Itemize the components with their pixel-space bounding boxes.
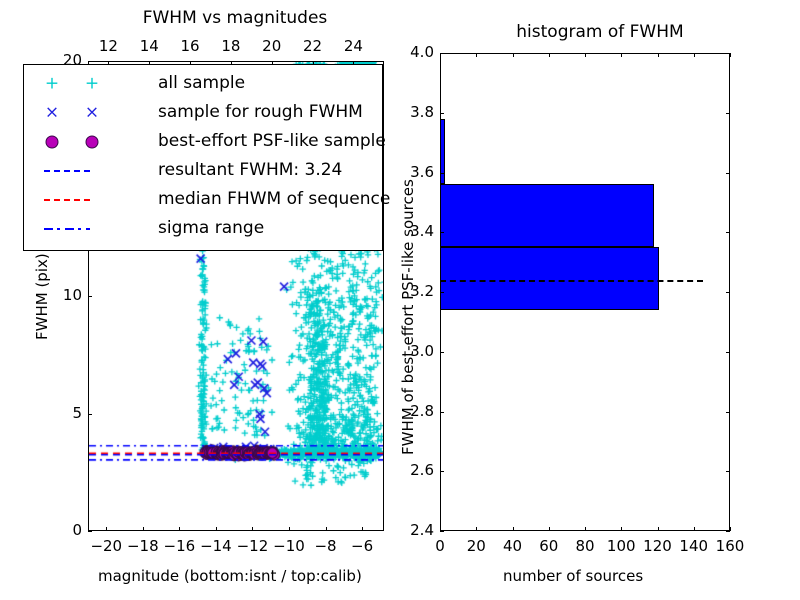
legend-label: resultant FWHM: 3.24	[158, 156, 342, 185]
tick-mark	[694, 527, 695, 531]
tick-mark	[440, 531, 444, 532]
histogram-plot-axes	[440, 53, 730, 531]
tick-label: 80	[565, 537, 605, 555]
legend-label: best-effort PSF-like sample	[158, 127, 386, 156]
tick-label: −12	[233, 537, 271, 555]
cross-icon: ×	[85, 104, 99, 121]
legend[interactable]: ++all sample××sample for rough FWHMbest-…	[23, 64, 383, 251]
tick-label: 14	[130, 37, 168, 55]
tick-mark	[549, 53, 550, 57]
tick-mark	[726, 113, 730, 114]
tick-mark	[440, 113, 444, 114]
legend-marker	[30, 156, 158, 185]
dashdot-line-icon	[44, 228, 90, 230]
tick-mark	[88, 296, 92, 297]
tick-mark	[730, 527, 731, 531]
tick-mark	[726, 471, 730, 472]
legend-label: sample for rough FWHM	[158, 98, 363, 127]
tick-mark	[726, 232, 730, 233]
legend-item[interactable]: ××sample for rough FWHM	[30, 98, 382, 127]
tick-mark	[513, 527, 514, 531]
tick-mark	[106, 527, 107, 531]
tick-label: 16	[171, 37, 209, 55]
tick-mark	[476, 527, 477, 531]
tick-mark	[440, 53, 441, 57]
tick-label: 5	[40, 404, 82, 422]
tick-label: 0	[40, 521, 82, 539]
tick-mark	[440, 471, 444, 472]
tick-mark	[730, 53, 731, 57]
tick-label: 160	[710, 537, 750, 555]
tick-label: 18	[212, 37, 250, 55]
legend-marker	[30, 185, 158, 214]
tick-label: 3.8	[394, 103, 434, 121]
tick-mark	[726, 352, 730, 353]
tick-label: −14	[197, 537, 235, 555]
legend-label: sigma range	[158, 214, 264, 243]
legend-marker: ++	[30, 69, 158, 98]
tick-mark	[476, 53, 477, 57]
tick-mark	[440, 232, 444, 233]
tick-mark	[362, 527, 363, 531]
tick-mark	[621, 53, 622, 57]
dashed-line-icon	[44, 170, 90, 172]
filled-circle-icon	[86, 135, 99, 148]
tick-label: 2.8	[394, 402, 434, 420]
tick-mark	[585, 53, 586, 57]
tick-mark	[726, 412, 730, 413]
legend-item[interactable]: ++all sample	[30, 69, 382, 98]
tick-label: 10	[40, 286, 82, 304]
tick-mark	[440, 412, 444, 413]
legend-item[interactable]: median FHWM of sequence	[30, 185, 382, 214]
legend-label: median FHWM of sequence	[158, 185, 390, 214]
tick-label: −10	[270, 537, 308, 555]
tick-label: 100	[601, 537, 641, 555]
plus-icon: +	[85, 75, 99, 92]
tick-mark	[88, 61, 92, 62]
legend-item[interactable]: best-effort PSF-like sample	[30, 127, 382, 156]
plus-icon: +	[45, 75, 59, 92]
tick-label: 3.0	[394, 342, 434, 360]
dashed-line-icon	[44, 199, 90, 201]
left-panel-title: FWHM vs magnitudes	[80, 8, 390, 28]
tick-mark	[440, 292, 444, 293]
tick-label: 3.6	[394, 163, 434, 181]
tick-mark	[289, 527, 290, 531]
cross-icon: ×	[45, 104, 59, 121]
tick-label: 4.0	[394, 43, 434, 61]
tick-mark	[143, 527, 144, 531]
right-panel-title: histogram of FWHM	[450, 22, 750, 42]
tick-label: 40	[493, 537, 533, 555]
legend-item[interactable]: resultant FWHM: 3.24	[30, 156, 382, 185]
tick-mark	[658, 527, 659, 531]
tick-label: 2.4	[394, 521, 434, 539]
tick-mark	[440, 173, 444, 174]
tick-label: −18	[124, 537, 162, 555]
tick-label: 3.4	[394, 222, 434, 240]
tick-mark	[726, 531, 730, 532]
tick-mark	[726, 173, 730, 174]
tick-mark	[621, 527, 622, 531]
tick-mark	[88, 531, 92, 532]
tick-mark	[252, 527, 253, 531]
tick-mark	[694, 53, 695, 57]
tick-label: −20	[87, 537, 125, 555]
tick-label: 120	[638, 537, 678, 555]
histogram-xlabel: number of sources	[503, 567, 643, 585]
tick-mark	[726, 292, 730, 293]
tick-label: −16	[160, 537, 198, 555]
tick-mark	[585, 527, 586, 531]
tick-mark	[658, 53, 659, 57]
tick-label: 22	[294, 37, 332, 55]
legend-label: all sample	[158, 69, 245, 98]
tick-label: 2.6	[394, 461, 434, 479]
tick-label: 20	[456, 537, 496, 555]
figure-canvas: FWHM vs magnitudes magnitude (bottom:isn…	[0, 0, 800, 600]
tick-mark	[179, 527, 180, 531]
tick-label: 3.2	[394, 282, 434, 300]
tick-mark	[513, 53, 514, 57]
legend-marker: ××	[30, 98, 158, 127]
legend-marker	[30, 214, 158, 243]
tick-mark	[440, 352, 444, 353]
tick-label: 140	[674, 537, 714, 555]
tick-label: −8	[307, 537, 345, 555]
tick-mark	[216, 527, 217, 531]
tick-label: 24	[334, 37, 372, 55]
tick-mark	[549, 527, 550, 531]
tick-mark	[88, 414, 92, 415]
tick-label: −6	[343, 537, 381, 555]
legend-marker	[30, 127, 158, 156]
tick-label: 0	[420, 537, 460, 555]
tick-label: 12	[89, 37, 127, 55]
tick-mark	[326, 527, 327, 531]
tick-label: 60	[529, 537, 569, 555]
tick-label: 20	[253, 37, 291, 55]
legend-item[interactable]: sigma range	[30, 214, 382, 243]
left-xlabel: magnitude (bottom:isnt / top:calib)	[98, 567, 362, 585]
filled-circle-icon	[46, 135, 59, 148]
